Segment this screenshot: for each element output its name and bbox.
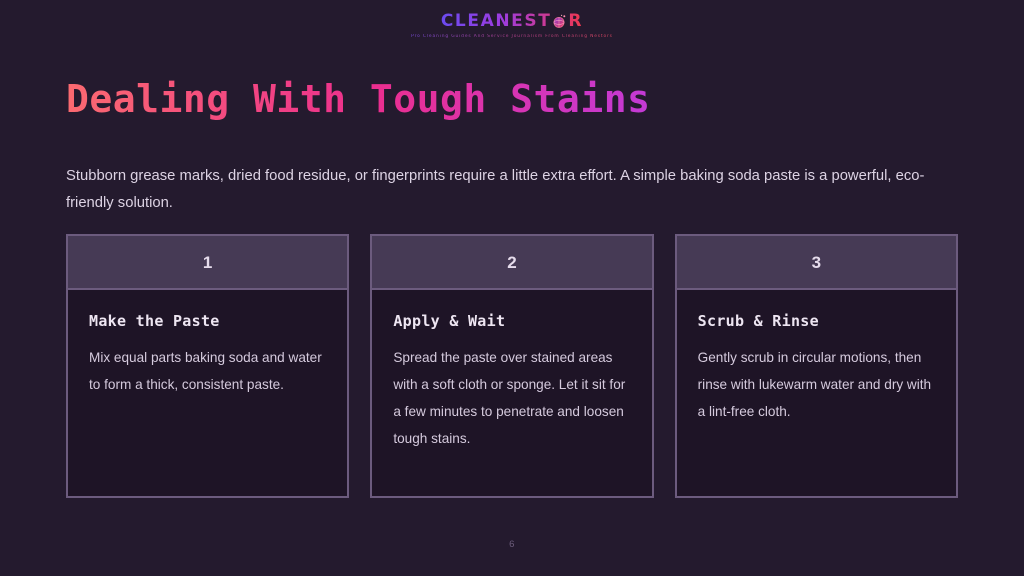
step-card-body: Apply & Wait Spread the paste over stain…	[372, 290, 651, 496]
step-number: 2	[507, 254, 516, 271]
brand-header: CLEANEST R Pro Cleaning Guides And Servi…	[0, 13, 1024, 39]
step-card-header: 2	[372, 236, 651, 290]
brand-name-part-1: CLEANEST	[441, 13, 552, 30]
brand-wordmark: CLEANEST R	[441, 13, 583, 30]
page-number: 6	[0, 539, 1024, 550]
brand-name-part-2: R	[568, 13, 583, 30]
step-card: 2 Apply & Wait Spread the paste over sta…	[370, 234, 653, 498]
step-description: Mix equal parts baking soda and water to…	[89, 344, 326, 398]
step-card-header: 1	[68, 236, 347, 290]
step-card-body: Scrub & Rinse Gently scrub in circular m…	[677, 290, 956, 496]
step-card-header: 3	[677, 236, 956, 290]
step-card-body: Make the Paste Mix equal parts baking so…	[68, 290, 347, 496]
step-title: Apply & Wait	[393, 312, 630, 330]
step-cards-row: 1 Make the Paste Mix equal parts baking …	[66, 234, 958, 498]
page-title: Dealing With Tough Stains	[66, 77, 650, 122]
step-description: Spread the paste over stained areas with…	[393, 344, 630, 452]
step-card: 3 Scrub & Rinse Gently scrub in circular…	[675, 234, 958, 498]
step-card: 1 Make the Paste Mix equal parts baking …	[66, 234, 349, 498]
globe-icon	[551, 14, 567, 30]
brand-tagline: Pro Cleaning Guides And Service Journali…	[411, 34, 613, 39]
step-description: Gently scrub in circular motions, then r…	[698, 344, 935, 425]
intro-paragraph: Stubborn grease marks, dried food residu…	[66, 163, 958, 217]
step-number: 1	[203, 254, 212, 271]
step-title: Scrub & Rinse	[698, 312, 935, 330]
step-number: 3	[812, 254, 821, 271]
step-title: Make the Paste	[89, 312, 326, 330]
